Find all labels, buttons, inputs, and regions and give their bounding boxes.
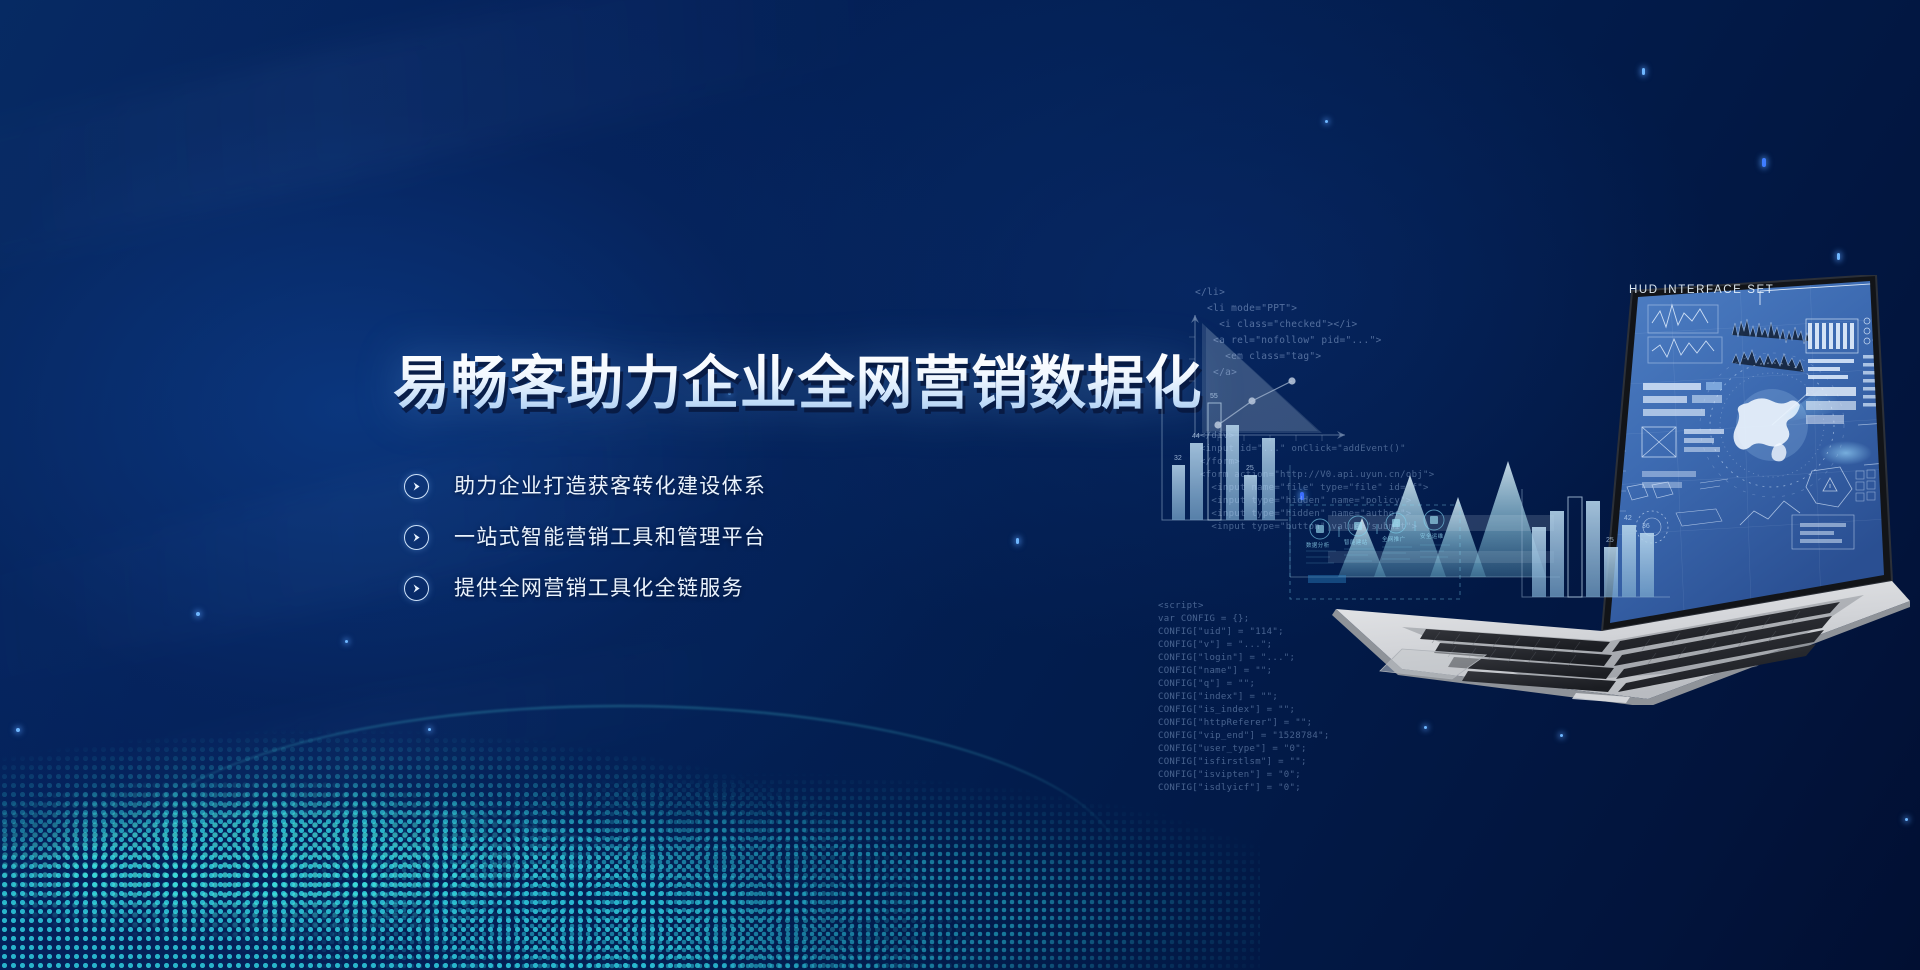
laptop-hud-dashboard-illustration: HUD INTERFACE SET 32 44 55 25 25 42 36 数…	[1140, 275, 1920, 705]
page-title: 易畅客助力企业全网营销数据化	[393, 352, 1202, 414]
list-item: 提供全网营销工具化全链服务	[404, 563, 766, 614]
hologram-frame	[1290, 465, 1460, 599]
particle-dot	[1762, 158, 1766, 167]
light-streak-decor	[0, 0, 882, 281]
play-circle-icon	[404, 576, 429, 601]
particle-dot	[1642, 68, 1645, 75]
particle-dot	[1016, 538, 1019, 544]
light-streak-decor	[58, 624, 762, 846]
particle-dot	[1905, 818, 1908, 821]
particle-dot	[1837, 253, 1840, 260]
particle-dot	[1325, 120, 1328, 123]
list-item-label: 助力企业打造获客转化建设体系	[454, 475, 766, 499]
triangle-axis-line-chart	[1189, 315, 1345, 441]
particle-dot	[16, 728, 20, 732]
play-circle-icon	[404, 474, 429, 499]
particle-dot	[345, 640, 348, 643]
particle-wave-decor	[0, 610, 1260, 970]
particle-dot	[1560, 734, 1563, 737]
hero-banner: 易畅客助力企业全网营销数据化 助力企业打造获客转化建设体系 一站式智能营销工具和…	[0, 0, 1920, 970]
particle-dot	[1424, 726, 1427, 729]
play-circle-icon	[404, 525, 429, 550]
particle-dot	[428, 728, 431, 731]
feature-bullet-list: 助力企业打造获客转化建设体系 一站式智能营销工具和管理平台 提供全网营销工具化全…	[404, 461, 766, 614]
particle-dot	[196, 612, 200, 616]
list-item-label: 一站式智能营销工具和管理平台	[454, 526, 766, 550]
list-item: 一站式智能营销工具和管理平台	[404, 512, 766, 563]
list-item-label: 提供全网营销工具化全链服务	[454, 577, 744, 601]
holographic-mountain-chart	[1290, 461, 1560, 577]
list-item: 助力企业打造获客转化建设体系	[404, 461, 766, 512]
illustration-graphics	[1140, 275, 1920, 705]
